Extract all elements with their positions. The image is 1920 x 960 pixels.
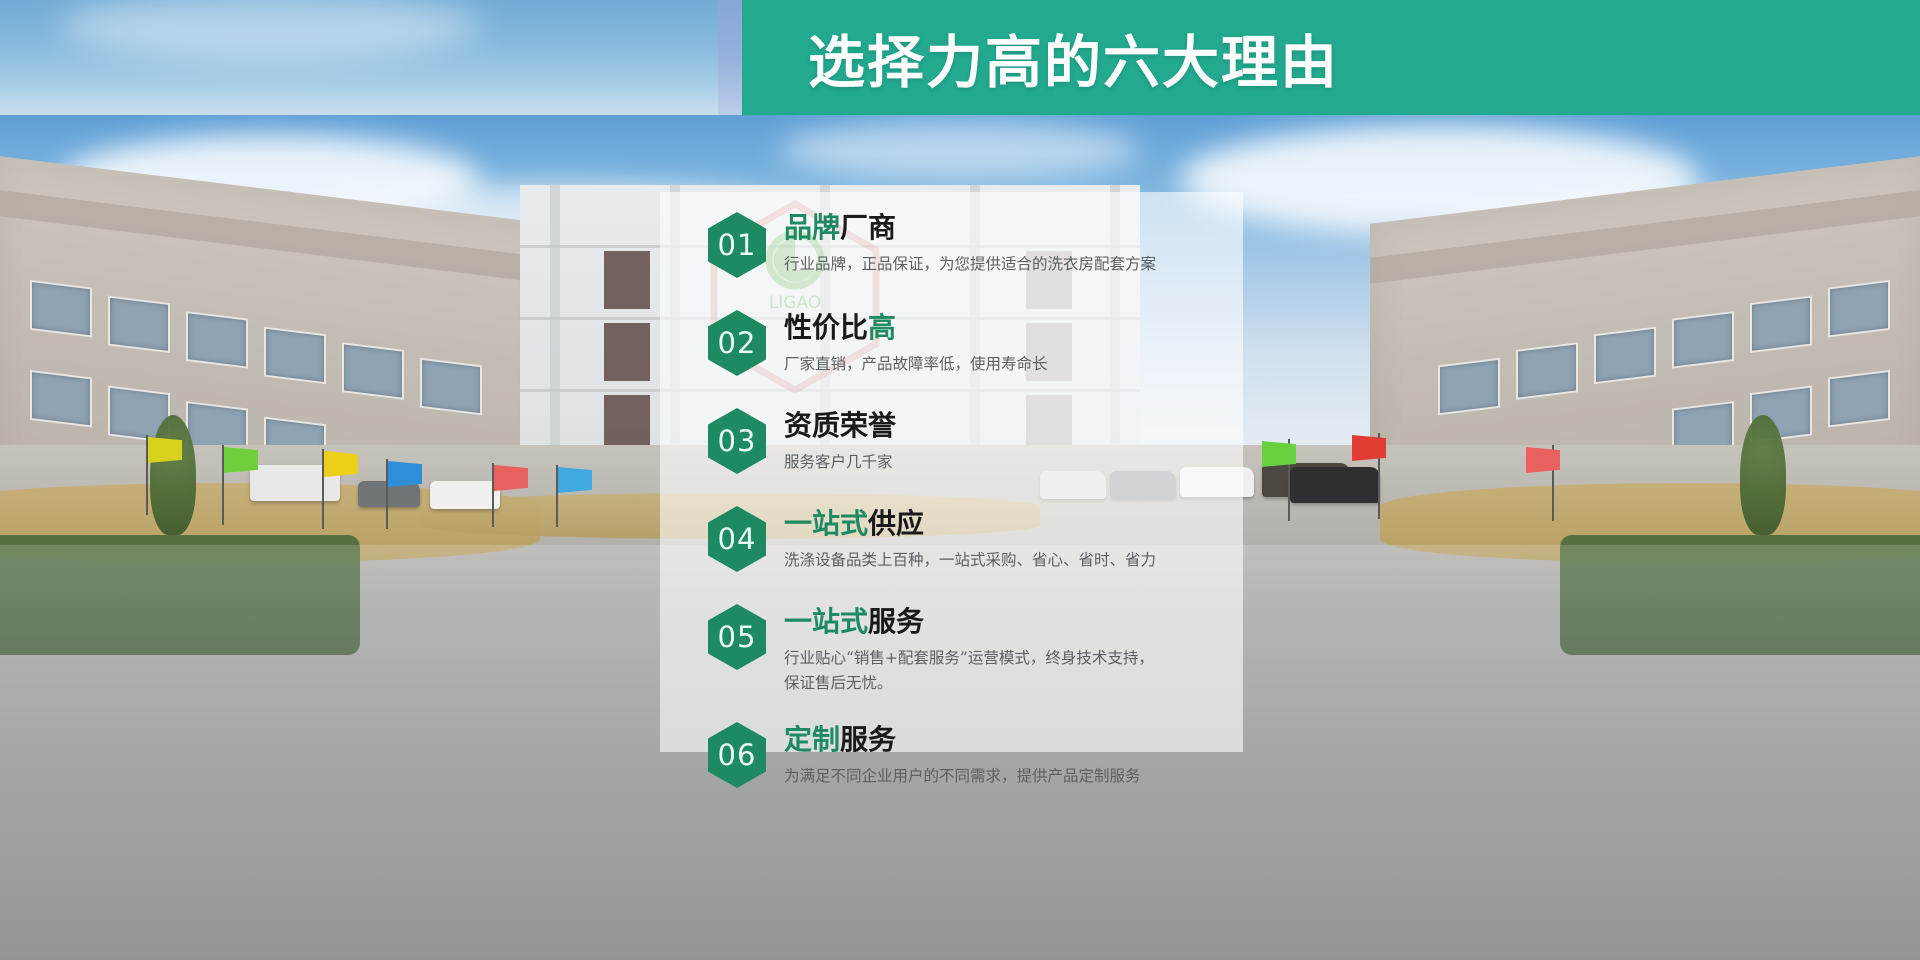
hexagon-badge: 06 [708, 722, 766, 788]
tree [150, 415, 196, 535]
page-root: 选择力高的六大理由 LIGAO 01 品牌厂商 [0, 0, 1920, 960]
parked-car [1290, 467, 1380, 503]
item-title-main: 厂商 [840, 211, 896, 244]
hexagon-badge: 01 [708, 212, 766, 278]
flag [148, 437, 182, 463]
list-item[interactable]: 06 定制服务 为满足不同企业用户的不同需求，提供产品定制服务 [708, 718, 1228, 810]
item-title: 资质荣誉 [784, 404, 1228, 448]
item-title-main: 性价比 [784, 311, 868, 344]
flag [224, 447, 258, 473]
item-title-main: 服务 [868, 605, 924, 638]
hexagon-badge: 03 [708, 408, 766, 474]
item-title: 一站式服务 [784, 600, 1228, 644]
item-title-accent: 高 [868, 311, 896, 344]
cloud [780, 120, 1140, 180]
item-number: 04 [718, 522, 757, 556]
item-description: 洗涤设备品类上百种，一站式采购、省心、省时、省力 [784, 548, 1228, 573]
item-title-accent: 一站式 [784, 507, 868, 540]
reasons-list: 01 品牌厂商 行业品牌，正品保证，为您提供适合的洗衣房配套方案 02 性价比高 [708, 206, 1228, 816]
tree [1740, 415, 1786, 535]
item-description: 为满足不同企业用户的不同需求，提供产品定制服务 [784, 764, 1228, 789]
item-title-main: 服务 [840, 723, 896, 756]
hexagon-badge: 05 [708, 604, 766, 670]
item-title: 性价比高 [784, 306, 1228, 350]
item-title: 品牌厂商 [784, 206, 1228, 250]
item-number: 05 [718, 620, 757, 654]
item-number: 02 [718, 326, 757, 360]
hexagon-badge: 04 [708, 506, 766, 572]
header-left-panel [0, 0, 718, 115]
flag [388, 461, 422, 487]
item-title: 定制服务 [784, 718, 1228, 762]
item-description: 行业品牌，正品保证，为您提供适合的洗衣房配套方案 [784, 252, 1228, 277]
hexagon-badge: 02 [708, 310, 766, 376]
list-item[interactable]: 01 品牌厂商 行业品牌，正品保证，为您提供适合的洗衣房配套方案 [708, 206, 1228, 300]
item-title-main: 供应 [868, 507, 924, 540]
flag [324, 451, 358, 477]
item-title-accent: 一站式 [784, 605, 868, 638]
header-title-bar: 选择力高的六大理由 [742, 0, 1920, 115]
item-title-accent: 定制 [784, 723, 840, 756]
item-number: 03 [718, 424, 757, 458]
item-number: 06 [718, 738, 757, 772]
flag [558, 467, 592, 493]
item-description: 行业贴心“销售+配套服务”运营模式，终身技术支持， 保证售后无忧。 [784, 646, 1228, 696]
flag [1262, 441, 1296, 467]
flag [1352, 435, 1386, 461]
flag [1526, 447, 1560, 473]
flag [494, 465, 528, 491]
item-number: 01 [718, 228, 757, 262]
header-divider [718, 0, 742, 115]
item-description: 服务客户几千家 [784, 450, 1228, 475]
list-item[interactable]: 03 资质荣誉 服务客户几千家 [708, 404, 1228, 496]
list-item[interactable]: 02 性价比高 厂家直销，产品故障率低，使用寿命长 [708, 306, 1228, 398]
list-item[interactable]: 05 一站式服务 行业贴心“销售+配套服务”运营模式，终身技术支持， 保证售后无… [708, 600, 1228, 712]
page-title: 选择力高的六大理由 [808, 17, 1339, 99]
parked-car [430, 481, 500, 509]
features-card: LIGAO 01 品牌厂商 行业品牌，正品保证，为您提供适合的洗衣房配套方案 [660, 192, 1243, 752]
list-item[interactable]: 04 一站式供应 洗涤设备品类上百种，一站式采购、省心、省时、省力 [708, 502, 1228, 594]
item-title-accent: 品牌 [784, 211, 840, 244]
item-title: 一站式供应 [784, 502, 1228, 546]
item-title-main: 资质荣誉 [784, 409, 896, 442]
item-description: 厂家直销，产品故障率低，使用寿命长 [784, 352, 1228, 377]
